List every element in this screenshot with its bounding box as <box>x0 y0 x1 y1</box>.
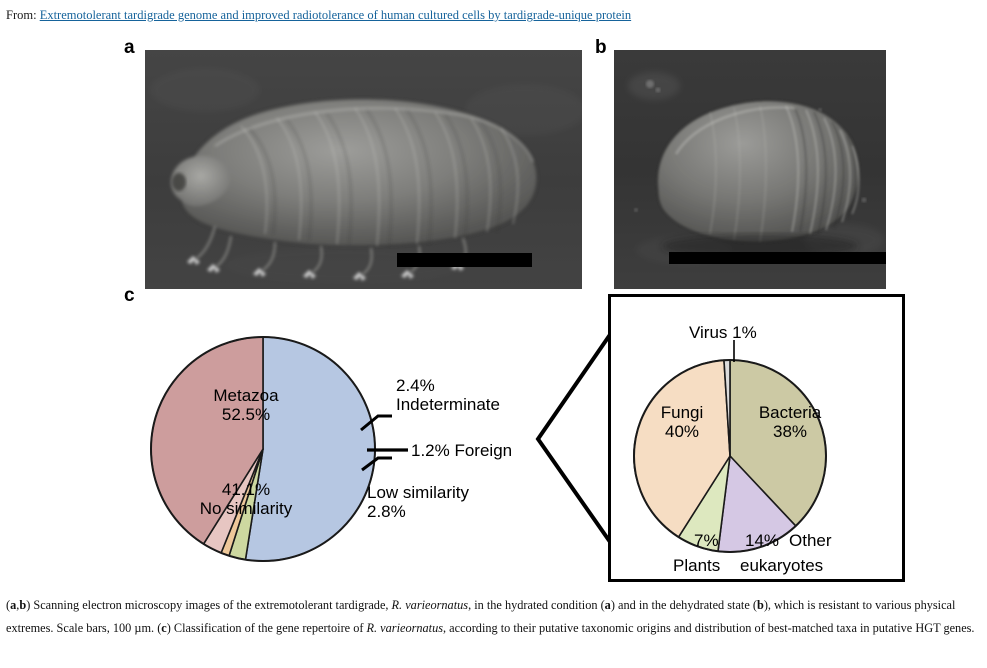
pie-left-leader-lines <box>330 358 450 518</box>
pie-left-slice-label-metazoa: Metazoa 52.5% <box>186 386 306 424</box>
caption-segment-4: ) Scanning electron microscopy images of… <box>26 598 391 612</box>
panel-label-b: b <box>595 38 607 57</box>
pie-right-virus-tick <box>724 340 744 362</box>
pie-right-slice-label-plants-name: Plants <box>673 556 720 575</box>
caption-segment-6: , in the hydrated condition ( <box>468 598 605 612</box>
scale-bar-panel-a <box>397 253 532 267</box>
caption-segment-12: ) Classification of the gene repertoire … <box>167 621 367 635</box>
pie-right-slice-label-other-eukaryotes-name: Other <box>789 531 832 550</box>
caption-segment-8: ) and in the dehydrated state ( <box>611 598 757 612</box>
figure-caption: (a,b) Scanning electron microscopy image… <box>6 594 981 639</box>
pie-chart-hgt-taxa[interactable] <box>632 358 832 558</box>
sem-micrograph-dehydrated-tardigrade <box>614 50 886 289</box>
caption-segment-9: b <box>757 598 764 612</box>
panel-label-c: c <box>124 286 135 305</box>
pie-right-svg[interactable] <box>632 358 832 558</box>
sem-micrograph-hydrated-tardigrade <box>145 50 582 289</box>
pie-right-slice-label-plants-value: 7% <box>694 531 719 550</box>
caption-segment-14: , according to their putative taxonomic … <box>443 621 974 635</box>
pie-right-slice-label-other-eukaryotes-name2: eukaryotes <box>740 556 823 575</box>
scale-bar-panel-b <box>669 252 886 264</box>
leader-line-indeterminate <box>362 458 392 470</box>
caption-segment-5: R. varieornatus <box>392 598 469 612</box>
from-label: From: <box>6 8 40 22</box>
pie-left-slice-label-no-similarity: 41.1% No similarity <box>166 480 326 518</box>
panel-label-a: a <box>124 38 135 57</box>
caption-segment-13: R. varieornatus <box>367 621 444 635</box>
pie-right-slice-label-virus: Virus 1% <box>689 323 757 342</box>
leader-line-low-similarity <box>361 416 392 430</box>
source-attribution-line: From: Extremotolerant tardigrade genome … <box>6 6 981 24</box>
article-title-link[interactable]: Extremotolerant tardigrade genome and im… <box>40 8 631 22</box>
pie-right-slice-label-other-eukaryotes-value: 14% <box>745 531 779 550</box>
pie-right-slice-label-fungi: Fungi 40% <box>637 403 727 441</box>
figure-image[interactable]: a b c <box>0 28 987 590</box>
pie-right-slice-label-bacteria: Bacteria 38% <box>742 403 838 441</box>
